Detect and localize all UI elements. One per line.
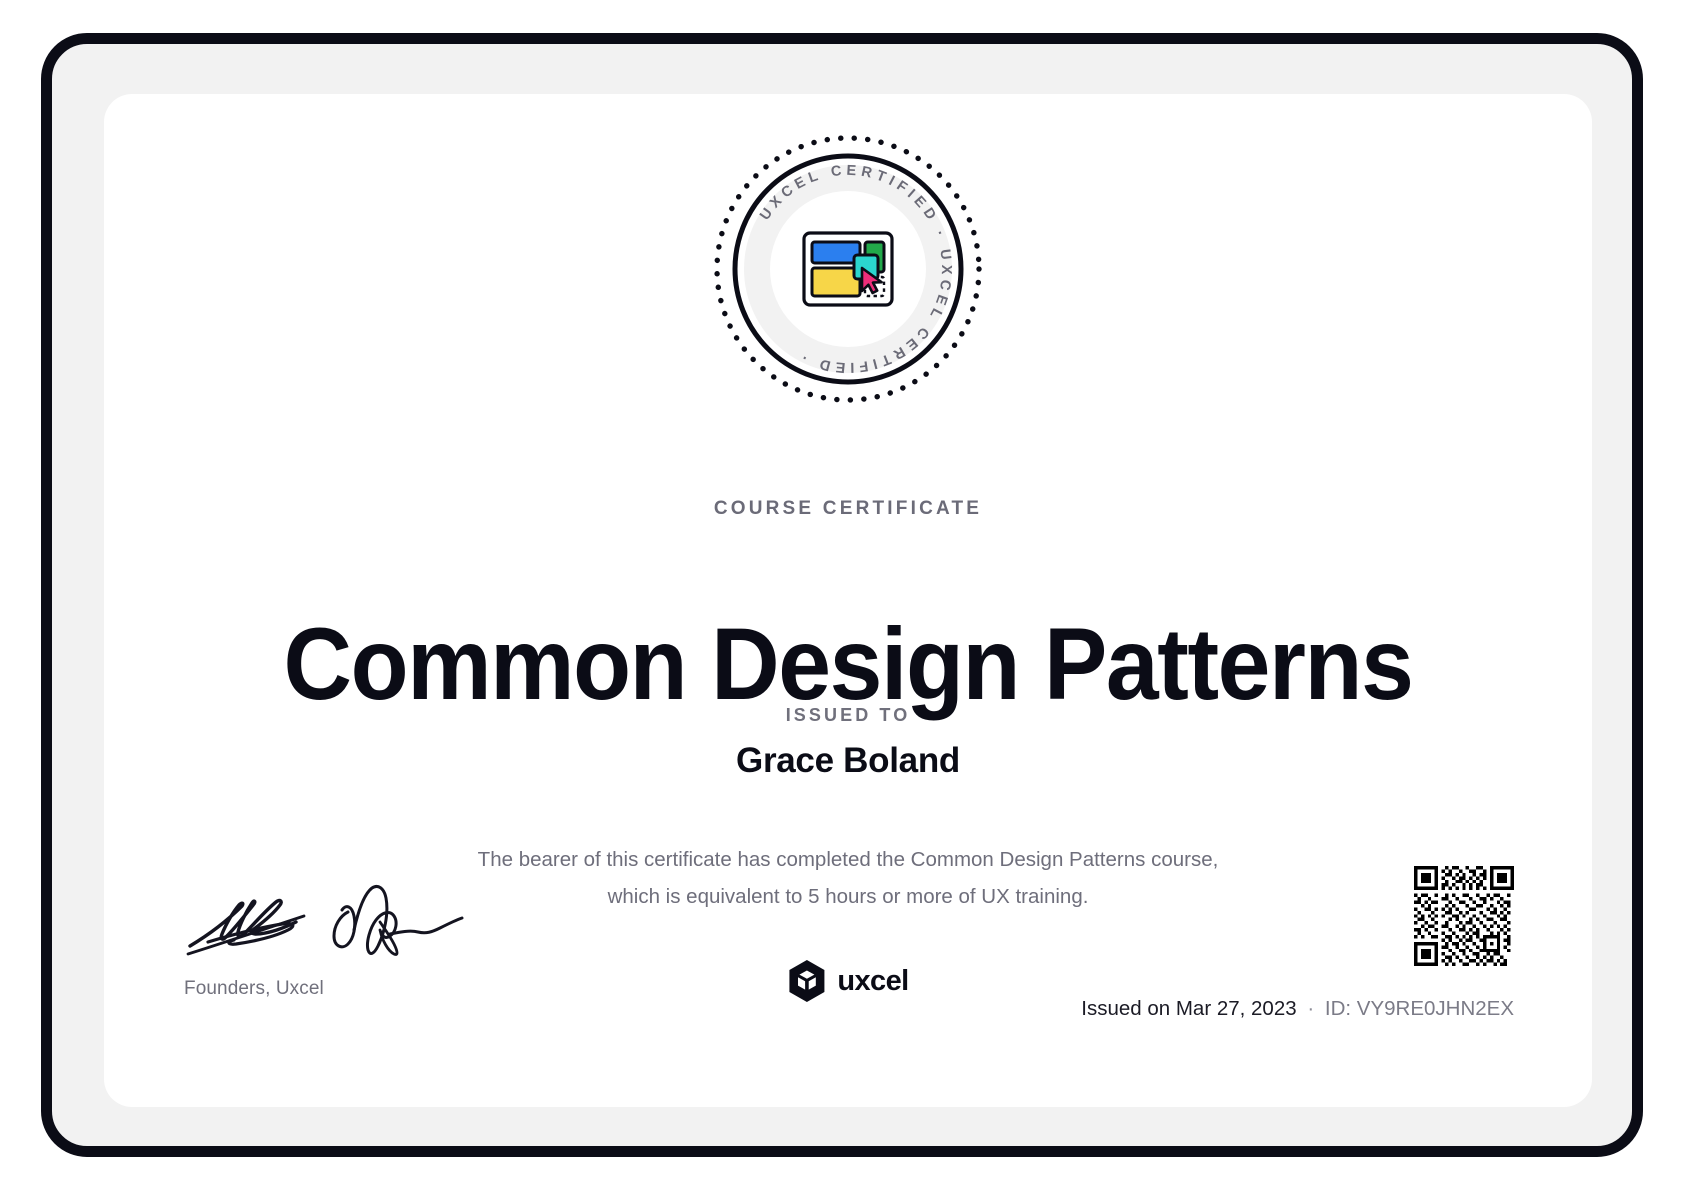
certificate-card: UXCEL CERTIFIED · UXCEL CERTIFIED · COUR… bbox=[104, 94, 1592, 1107]
uxcel-hexagon-cube-icon bbox=[787, 960, 826, 1002]
issue-separator: · bbox=[1302, 997, 1319, 1020]
course-certificate-eyebrow: COURSE CERTIFICATE bbox=[104, 498, 1592, 520]
issue-date: Issued on Mar 27, 2023 bbox=[1081, 997, 1296, 1020]
certificate-description: The bearer of this certificate has compl… bbox=[468, 841, 1228, 916]
design-patterns-layout-icon bbox=[804, 233, 892, 305]
issue-info-line: Issued on Mar 27, 2023 · ID: VY9RE0JHN2E… bbox=[1081, 997, 1514, 1021]
uxcel-brand-logo: uxcel bbox=[787, 960, 908, 1002]
uxcel-wordmark: uxcel bbox=[837, 965, 908, 998]
qr-code-block bbox=[1414, 866, 1514, 966]
certification-seal: UXCEL CERTIFIED · UXCEL CERTIFIED · bbox=[710, 131, 986, 407]
certificate-id: ID: VY9RE0JHN2EX bbox=[1325, 997, 1514, 1020]
recipient-name: Grace Boland bbox=[104, 741, 1592, 781]
signature-block: Founders, Uxcel bbox=[184, 884, 484, 1000]
founders-label: Founders, Uxcel bbox=[184, 978, 484, 1000]
qr-code-icon bbox=[1414, 866, 1514, 966]
handwritten-signatures-icon bbox=[184, 884, 474, 964]
certificate-frame: UXCEL CERTIFIED · UXCEL CERTIFIED · COUR… bbox=[41, 33, 1643, 1157]
issued-to-eyebrow: ISSUED TO bbox=[104, 705, 1592, 726]
